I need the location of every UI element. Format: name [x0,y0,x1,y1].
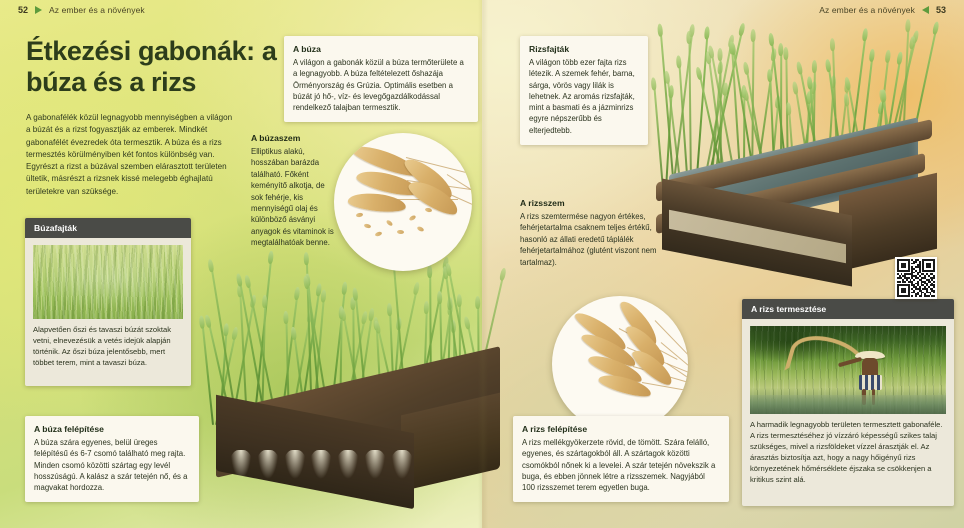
cereal-grain [397,229,404,234]
page-number-right: 53 [936,5,946,15]
cereal-grain [408,214,416,221]
card-a-buza-felepitese-heading: A búza felépítése [34,424,190,434]
card-a-rizs-felepitese-heading: A rizs felépítése [522,424,720,434]
cereal-grain [375,231,383,237]
figure-box-buzafajtak: Búzafajták Alapvetően őszi és tavaszi bú… [25,218,191,386]
running-head-right-label: Az ember és a növények [819,5,915,15]
page-title: Étkezési gabonák: a búza és a rizs [26,36,286,98]
figure-box-buzafajtak-inner: Alapvetően őszi és tavaszi búzát szoktak… [25,238,191,377]
card-rizsfajtak-heading: Rizsfajták [529,44,639,54]
page-number-left: 52 [18,5,28,15]
caption-a-rizsszem: A rizsszem A rizs szemtermése nagyon ért… [520,198,670,268]
caption-a-rizsszem-heading: A rizsszem [520,198,670,208]
wheat-field-photo [33,245,183,319]
farmer-sarong [859,375,882,390]
caption-a-buzaszem-body: Elliptikus alakú, hosszában barázda talá… [251,146,337,248]
caption-a-buzaszem: A búzaszem Elliptikus alakú, hosszában b… [251,133,337,248]
card-a-buza-body: A világon a gabonák közül a búza termőte… [293,57,469,113]
paddy-water-foreground [750,395,946,414]
card-a-buza-felepitese: A búza felépítése A búza szára egyenes, … [25,416,199,502]
card-rizsfajtak: Rizsfajták A világon több ezer fajta riz… [520,36,648,145]
running-head-right: Az ember és a növények 53 [819,5,946,15]
cereal-grain [416,226,424,233]
triangle-left-icon [922,6,929,14]
cereal-grain [386,220,394,228]
rice-paddy-farmer-photo [750,326,946,414]
wheat-grain-circle-photo [334,133,472,271]
wheat-roots [229,450,414,490]
card-rizsfajtak-body: A világon több ezer fajta rizs létezik. … [529,57,639,136]
figure-box-buzafajtak-heading: Búzafajták [25,218,191,238]
figure-box-rizs-termesztese-caption: A harmadik legnagyobb területen termeszt… [750,420,946,486]
wheat-sod-illustration [196,258,526,510]
figure-box-buzafajtak-caption: Alapvetően őszi és tavaszi búzát szoktak… [33,325,183,369]
running-head-left-label: Az ember és a növények [49,5,145,15]
running-head-left: 52 Az ember és a növények [18,5,145,15]
cereal-grain [364,223,372,229]
qr-code[interactable] [895,257,937,299]
figure-box-rizs-termesztese: A rizs termesztése A harmadik legnagyobb… [742,299,954,506]
caption-a-rizsszem-body: A rizs szemtermése nagyon értékes, fehér… [520,211,670,268]
card-a-rizs-felepitese: A rizs felépítése A rizs mellékgyökerzet… [513,416,729,502]
card-a-rizs-felepitese-body: A rizs mellékgyökerzete rövid, de tömött… [522,437,720,493]
card-a-buza-felepitese-body: A búza szára egyenes, belül üreges felép… [34,437,190,493]
figure-box-rizs-termesztese-inner: A harmadik legnagyobb területen termeszt… [742,319,954,494]
triangle-right-icon [35,6,42,14]
intro-paragraph: A gabonafélék közül legnagyobb mennyiség… [26,112,238,198]
card-a-buza: A búza A világon a gabonák közül a búza … [284,36,478,122]
rice-grain-circle-photo [552,296,688,432]
textbook-spread: 52 Az ember és a növények Az ember és a … [0,0,964,528]
figure-box-rizs-termesztese-heading: A rizs termesztése [742,299,954,319]
card-a-buza-heading: A búza [293,44,469,54]
cereal-grain [356,212,364,217]
qr-code-modules [897,259,935,297]
caption-a-buzaszem-heading: A búzaszem [251,133,337,143]
